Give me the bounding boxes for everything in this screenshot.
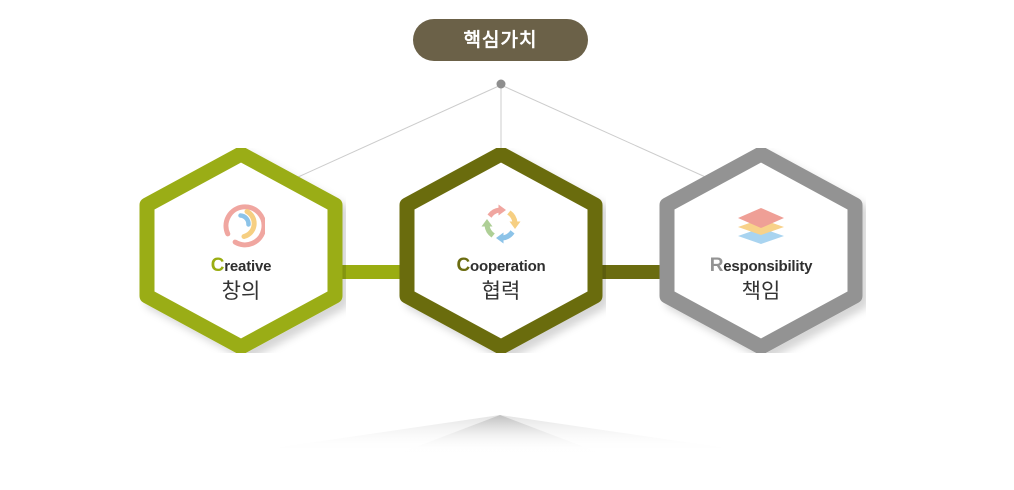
- core-values-diagram: 핵심가치: [0, 0, 1014, 490]
- stacked-layers-icon: [733, 198, 789, 250]
- value-label-en-creative: Creative: [211, 256, 272, 277]
- value-label-ko-responsibility: 책임: [742, 280, 781, 303]
- value-label-en-cooperation: Cooperation: [456, 256, 545, 277]
- value-initial-creative: C: [211, 255, 225, 276]
- value-node-responsibility[interactable]: Responsibility 책임: [656, 148, 866, 353]
- value-initial-responsibility: R: [710, 255, 724, 276]
- value-node-content-cooperation: Cooperation 협력: [396, 148, 606, 353]
- core-values-title-badge: 핵심가치: [413, 19, 588, 61]
- value-label-en-responsibility: Responsibility: [710, 256, 813, 277]
- value-label-rest-responsibility: esponsibility: [723, 258, 812, 275]
- arc-rings-icon: [213, 198, 269, 250]
- value-node-cooperation[interactable]: Cooperation 협력: [396, 148, 606, 353]
- cycle-arrows-icon: [473, 198, 529, 250]
- page-title: 핵심가치: [464, 31, 538, 50]
- value-label-rest-cooperation: ooperation: [470, 258, 546, 275]
- value-initial-cooperation: C: [456, 255, 470, 276]
- value-label-ko-cooperation: 협력: [482, 280, 521, 303]
- bottom-reflection: [0, 415, 1014, 490]
- value-label-rest-creative: reative: [224, 258, 271, 275]
- value-node-creative[interactable]: Creative 창의: [136, 148, 346, 353]
- value-node-content-responsibility: Responsibility 책임: [656, 148, 866, 353]
- value-label-ko-creative: 창의: [222, 280, 261, 303]
- value-node-content-creative: Creative 창의: [136, 148, 346, 353]
